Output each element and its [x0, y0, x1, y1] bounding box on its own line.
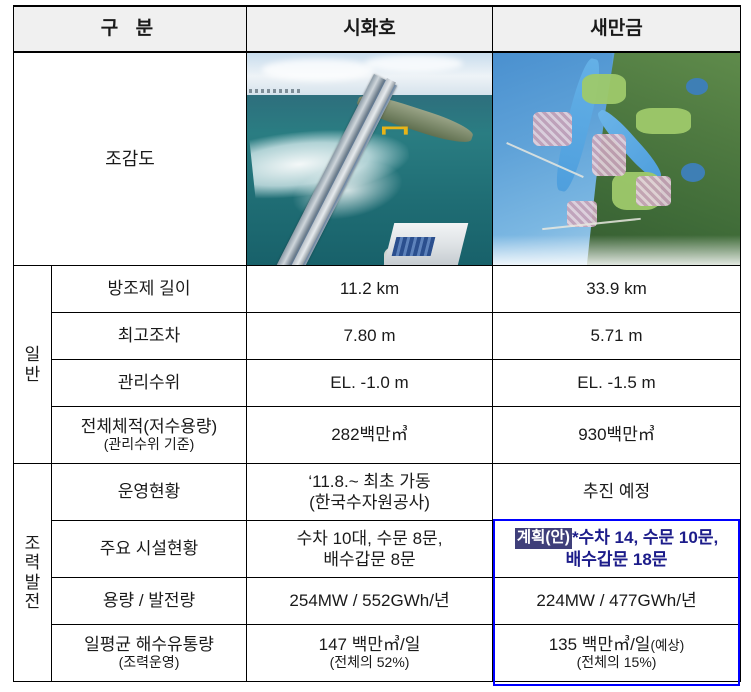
distant-skyline [249, 89, 303, 93]
row-item-label: 용량 / 발전량 [52, 578, 247, 625]
row-item-label-main: 일평균 해수유통량 [84, 635, 214, 654]
row-value-saemangeum: 추진 예정 [493, 464, 741, 521]
table-header-row: 구 분 시화호 새만금 [14, 6, 741, 52]
row-value-inline-note: (예상) [650, 638, 684, 653]
table-row: 최고조차 7.80 m 5.71 m [14, 313, 741, 360]
row-value-sihwa: 수차 10대, 수문 8문, 배수갑문 8문 [247, 521, 493, 578]
row-value-sub: 배수갑문 8문 [250, 549, 489, 570]
row-value-main: 135 백만㎥/일 [549, 635, 651, 654]
row-value-sihwa: 147 백만㎥/일 (전체의 52%) [247, 625, 493, 682]
row-value-saemangeum: 224MW / 477GWh/년 [493, 578, 741, 625]
row-value-sihwa: 282백만㎥ [247, 407, 493, 464]
overview-row: 조감도 [14, 52, 741, 266]
comparison-sheet: 구 분 시화호 새만금 조감도 [0, 0, 751, 692]
green-zone [636, 108, 690, 133]
table-row: 관리수위 EL. -1.0 m EL. -1.5 m [14, 360, 741, 407]
vertical-char: 반 [25, 365, 41, 384]
header-cell-sihwa: 시화호 [247, 6, 493, 52]
vertical-text-stack: 조 력 발 전 [17, 534, 48, 610]
row-item-label: 운영현황 [52, 464, 247, 521]
row-item-label-main: 전체체적(저수용량) [81, 417, 217, 436]
row-value-saemangeum: 33.9 km [493, 266, 741, 313]
row-value-saemangeum: 5.71 m [493, 313, 741, 360]
header-label-category: 구 분 [101, 18, 159, 39]
row-item-label-sub: (조력운영) [55, 654, 243, 672]
row-item-label: 방조제 길이 [52, 266, 247, 313]
row-value-sihwa: EL. -1.0 m [247, 360, 493, 407]
table-row: 일 반 방조제 길이 11.2 km 33.9 km [14, 266, 741, 313]
overview-image-saemangeum-cell [493, 52, 741, 266]
row-value-sub: (전체의 52%) [250, 654, 489, 672]
section-label-tidal-power: 조 력 발 전 [14, 464, 52, 682]
header-cell-saemangeum: 새만금 [493, 6, 741, 52]
plan-badge: 계획(안) [515, 528, 572, 549]
urban-district [592, 134, 627, 176]
row-item-label-sub: (관리수위 기준) [55, 436, 243, 454]
row-value-saemangeum: EL. -1.5 m [493, 360, 741, 407]
cloud-shape [365, 55, 463, 72]
row-value-saemangeum: 135 백만㎥/일(예상) (전체의 15%) [493, 625, 741, 682]
table-row: 조 력 발 전 운영현황 ‘11.8.~ 최초 가동 (한국수자원공사) 추진 … [14, 464, 741, 521]
row-value-main: *수차 14, 수문 10문, [572, 528, 718, 547]
vertical-text-stack: 일 반 [17, 345, 48, 383]
row-item-label: 최고조차 [52, 313, 247, 360]
row-value-sihwa: ‘11.8.~ 최초 가동 (한국수자원공사) [247, 464, 493, 521]
vertical-char: 전 [25, 592, 41, 611]
section-label-general: 일 반 [14, 266, 52, 464]
urban-district [533, 112, 573, 146]
vertical-char: 발 [25, 573, 41, 592]
vertical-char: 일 [25, 345, 41, 364]
vertical-char: 력 [25, 553, 41, 572]
row-item-label: 일평균 해수유통량 (조력운영) [52, 625, 247, 682]
bottom-haze [493, 235, 740, 265]
row-value-sihwa: 7.80 m [247, 313, 493, 360]
row-value-main: 147 백만㎥/일 [319, 635, 421, 654]
overview-label-cell: 조감도 [14, 52, 247, 266]
row-item-label: 주요 시설현황 [52, 521, 247, 578]
row-value-sub: (전체의 15%) [496, 654, 737, 672]
row-value-main: 수차 10대, 수문 8문, [297, 529, 443, 548]
row-value-saemangeum: 계획(안)*수차 14, 수문 10문, 배수갑문 18문 [493, 521, 741, 578]
table-row: 주요 시설현황 수차 10대, 수문 8문, 배수갑문 8문 계획(안)*수차 … [14, 521, 741, 578]
row-value-sihwa: 11.2 km [247, 266, 493, 313]
vertical-char: 조 [25, 534, 41, 553]
overview-image-sihwa-cell [247, 52, 493, 266]
table-row: 용량 / 발전량 254MW / 552GWh/년 224MW / 477GWh… [14, 578, 741, 625]
row-value-saemangeum: 930백만㎥ [493, 407, 741, 464]
header-cell-category: 구 분 [14, 6, 247, 52]
solar-panel-roof [392, 237, 436, 256]
row-item-label: 전체체적(저수용량) (관리수위 기준) [52, 407, 247, 464]
table-row: 전체체적(저수용량) (관리수위 기준) 282백만㎥ 930백만㎥ [14, 407, 741, 464]
green-zone [582, 74, 626, 104]
aerial-photo-sihwa-image [247, 53, 492, 265]
row-value-sub: 배수갑문 18문 [496, 549, 737, 570]
cloud-shape [262, 59, 375, 80]
row-value-sub: (한국수자원공사) [250, 492, 489, 513]
masterplan-render-saemangeum-image [493, 53, 740, 265]
urban-district [636, 176, 671, 206]
row-value-main: ‘11.8.~ 최초 가동 [308, 472, 430, 491]
comparison-table: 구 분 시화호 새만금 조감도 [13, 5, 741, 682]
table-row: 일평균 해수유통량 (조력운영) 147 백만㎥/일 (전체의 52%) 135… [14, 625, 741, 682]
row-item-label: 관리수위 [52, 360, 247, 407]
row-value-sihwa: 254MW / 552GWh/년 [247, 578, 493, 625]
